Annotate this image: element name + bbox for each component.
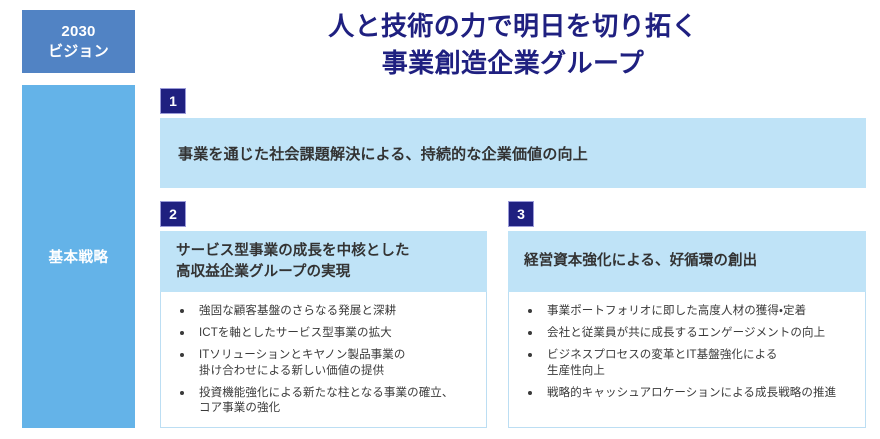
bullet-list-column-3: 事業ポートフォリオに即した高度人材の獲得・定着 会社と従業員が共に成長するエンゲ…: [523, 304, 855, 401]
bullet-dot-icon: [180, 309, 184, 313]
list-item-line-2: 生産性向上: [547, 364, 855, 379]
list-item: ITソリューションとキヤノン製品事業の 掛け合わせによる新しい価値の提供: [175, 348, 476, 378]
list-item: 強固な顧客基盤のさらなる発展と深耕: [175, 304, 476, 319]
strategy-column-3-heading-line-1: 経営資本強化による、好循環の創出: [524, 251, 850, 272]
list-item-line-2: コア事業の強化: [199, 401, 476, 416]
strategy-rail: 基本戦略: [22, 85, 135, 428]
strategy-column-2-heading-line-2: 高収益企業グループの実現: [176, 262, 471, 283]
strategy-column-3: 経営資本強化による、好循環の創出 事業ポートフォリオに即した高度人材の獲得・定着…: [508, 231, 866, 428]
page-title: 人と技術の力で明日を切り拓く 事業創造企業グループ: [160, 8, 866, 82]
strategy-band-1: 事業を通じた社会課題解決による、持続的な企業価値の向上: [160, 118, 866, 188]
step-number-badge-3: 3: [508, 201, 534, 227]
strategy-column-2-body: 強固な顧客基盤のさらなる発展と深耕 ICTを軸としたサービス型事業の拡大 ITソ…: [160, 292, 487, 428]
list-item: 投資機能強化による新たな柱となる事業の確立、 コア事業の強化: [175, 386, 476, 416]
page-title-line-1: 人と技術の力で明日を切り拓く: [160, 8, 866, 45]
list-item-line-2: 掛け合わせによる新しい価値の提供: [199, 364, 476, 379]
bullet-dot-icon: [180, 353, 184, 357]
strategy-rail-label: 基本戦略: [49, 246, 109, 267]
list-item: 会社と従業員が共に成長するエンゲージメントの向上: [523, 326, 855, 341]
list-item-line-1: 戦略的キャッシュアロケーションによる成長戦略の推進: [547, 386, 855, 401]
list-item: 戦略的キャッシュアロケーションによる成長戦略の推進: [523, 386, 855, 401]
list-item: 事業ポートフォリオに即した高度人材の獲得・定着: [523, 304, 855, 319]
list-item-line-1: 投資機能強化による新たな柱となる事業の確立、: [199, 386, 476, 401]
bullet-dot-icon: [528, 309, 532, 313]
list-item-line-1: ICTを軸としたサービス型事業の拡大: [199, 326, 476, 341]
page-title-line-2: 事業創造企業グループ: [160, 45, 866, 82]
bullet-dot-icon: [528, 331, 532, 335]
list-item-line-1: 事業ポートフォリオに即した高度人材の獲得・定着: [547, 304, 855, 319]
bullet-dot-icon: [528, 391, 532, 395]
list-item-line-1: 強固な顧客基盤のさらなる発展と深耕: [199, 304, 476, 319]
bullet-list-column-2: 強固な顧客基盤のさらなる発展と深耕 ICTを軸としたサービス型事業の拡大 ITソ…: [175, 304, 476, 416]
strategy-column-2: サービス型事業の成長を中核とした 高収益企業グループの実現 強固な顧客基盤のさら…: [160, 231, 487, 428]
strategy-column-2-heading-line-1: サービス型事業の成長を中核とした: [176, 241, 471, 262]
step-number-2: 2: [169, 206, 177, 222]
list-item-line-1: 会社と従業員が共に成長するエンゲージメントの向上: [547, 326, 855, 341]
list-item-line-1: ITソリューションとキヤノン製品事業の: [199, 348, 476, 363]
list-item: ICTを軸としたサービス型事業の拡大: [175, 326, 476, 341]
vision-badge: 2030 ビジョン: [22, 10, 135, 73]
vision-label: ビジョン: [48, 42, 109, 61]
strategy-column-2-heading: サービス型事業の成長を中核とした 高収益企業グループの実現: [160, 231, 487, 292]
step-number-badge-2: 2: [160, 201, 186, 227]
list-item: ビジネスプロセスの変革とIT基盤強化による 生産性向上: [523, 348, 855, 378]
step-number-1: 1: [169, 93, 177, 109]
strategy-column-3-body: 事業ポートフォリオに即した高度人材の獲得・定着 会社と従業員が共に成長するエンゲ…: [508, 292, 866, 428]
strategy-band-1-text: 事業を通じた社会課題解決による、持続的な企業価値の向上: [178, 143, 588, 164]
step-number-badge-1: 1: [160, 88, 186, 114]
bullet-dot-icon: [180, 331, 184, 335]
bullet-dot-icon: [180, 391, 184, 395]
list-item-line-1: ビジネスプロセスの変革とIT基盤強化による: [547, 348, 855, 363]
vision-year: 2030: [61, 22, 95, 41]
step-number-3: 3: [517, 206, 525, 222]
bullet-dot-icon: [528, 353, 532, 357]
strategy-column-3-heading: 経営資本強化による、好循環の創出: [508, 231, 866, 292]
